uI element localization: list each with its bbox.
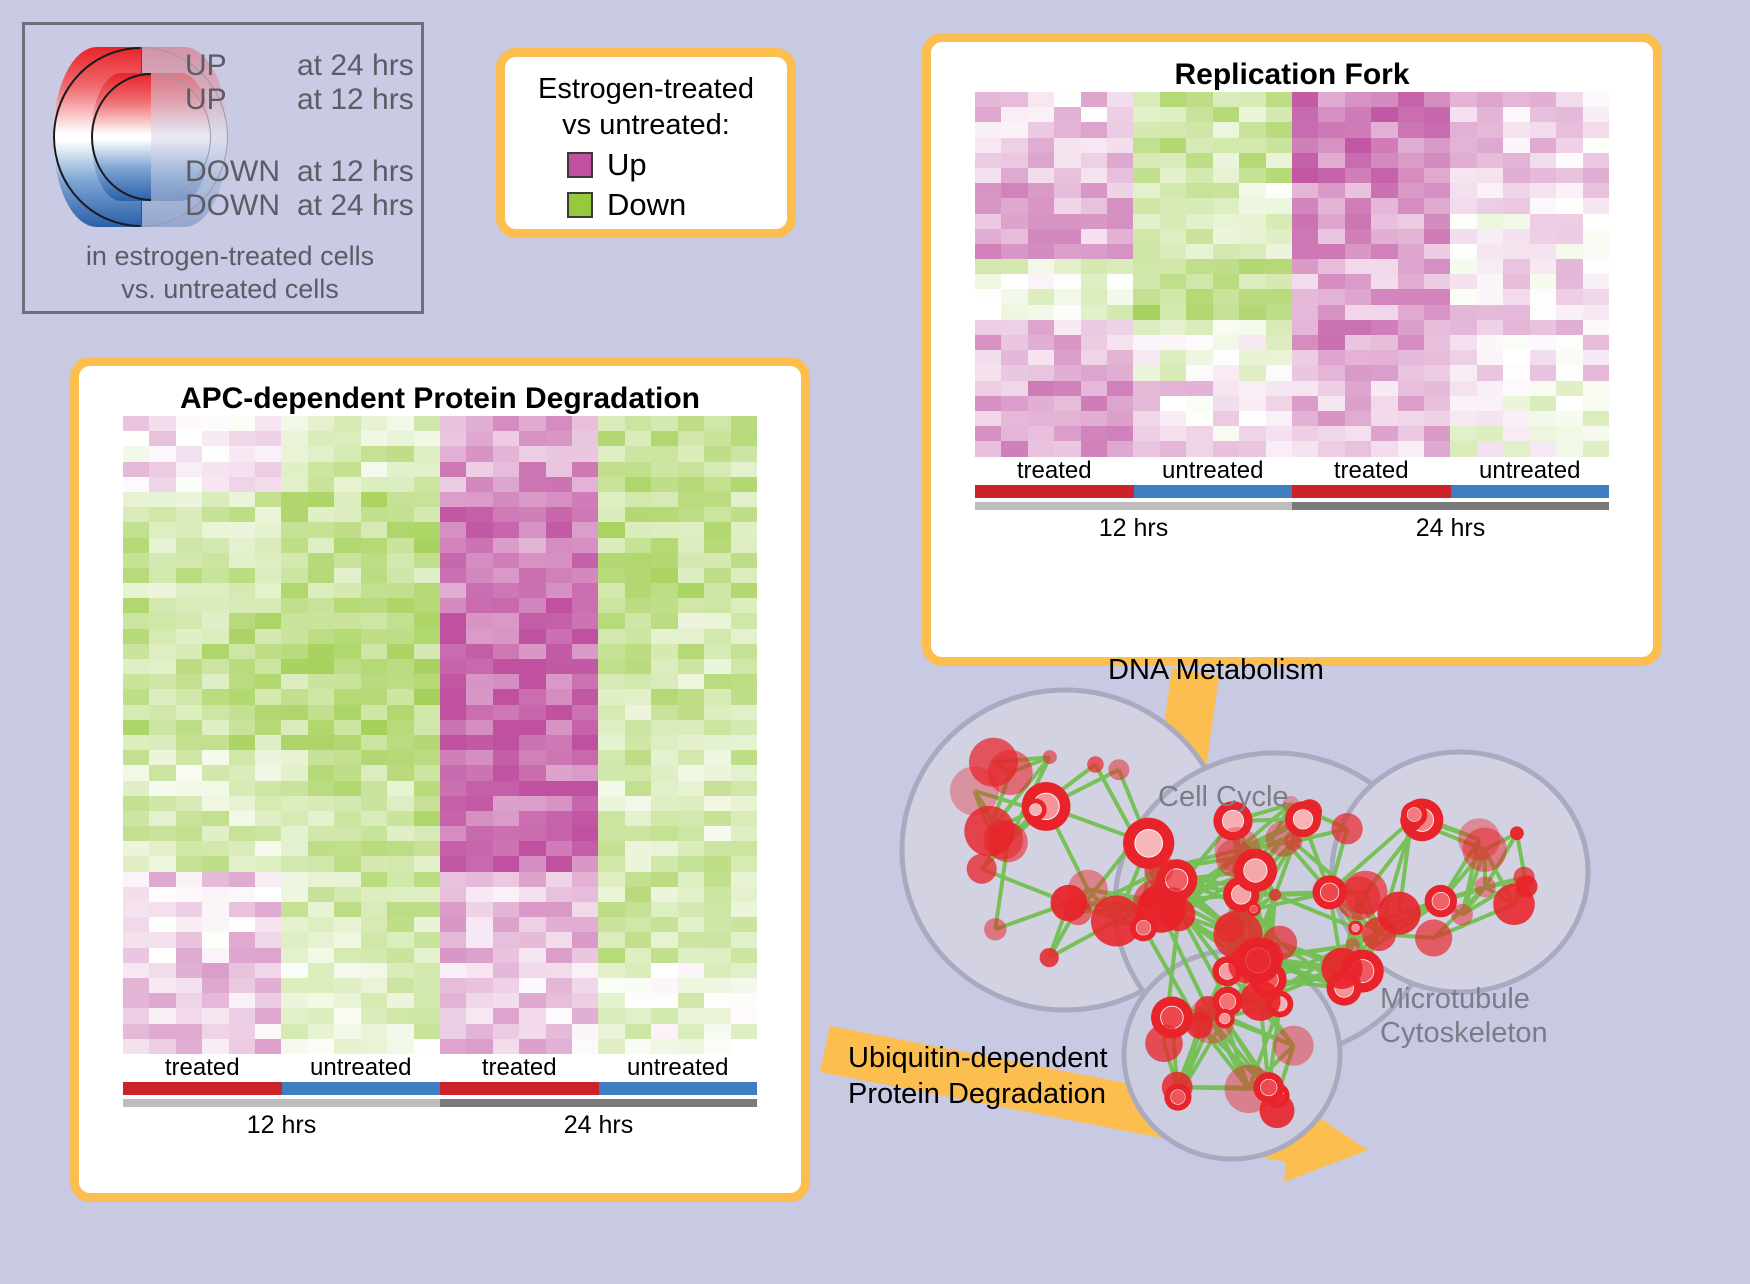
heatmap-cell	[493, 477, 519, 492]
heatmap-cell	[414, 507, 440, 522]
heatmap-cell	[975, 153, 1001, 168]
heatmap-cell	[149, 629, 175, 644]
heatmap-cell	[572, 902, 598, 917]
heatmap-cell	[255, 416, 281, 431]
heatmap-cell	[1028, 153, 1054, 168]
cluster-label-protein-degradation: Protein Degradation	[848, 1076, 1106, 1112]
heatmap-cell	[440, 674, 466, 689]
heatmap-cell	[387, 917, 413, 932]
heatmap-cell	[229, 507, 255, 522]
heatmap-cell	[202, 1039, 228, 1054]
heatmap-cell	[281, 705, 307, 720]
heatmap-cell	[1213, 153, 1239, 168]
heatmap-cell	[440, 765, 466, 780]
heatmap-cell	[1583, 153, 1609, 168]
heatmap-cell	[334, 856, 360, 871]
heatmap-cell	[308, 659, 334, 674]
heatmap-cell	[1239, 92, 1265, 107]
heatmap-cell	[255, 598, 281, 613]
heatmap-cell	[1345, 168, 1371, 183]
updown-legend-card: Estrogen-treated vs untreated: Up Down	[496, 48, 796, 238]
heatmap-cell	[1318, 305, 1344, 320]
heatmap-cell	[1345, 92, 1371, 107]
network-node[interactable]	[1475, 876, 1496, 897]
heatmap-cell	[598, 538, 624, 553]
heatmap-cell	[387, 629, 413, 644]
heatmap-cell	[572, 1039, 598, 1054]
heatmap-cell	[1001, 274, 1027, 289]
network-node[interactable]	[1451, 904, 1473, 926]
heatmap-cell	[1160, 122, 1186, 137]
heatmap-cell	[572, 796, 598, 811]
network-node[interactable]	[967, 854, 997, 884]
heatmap-cell	[1001, 350, 1027, 365]
heatmap-cell	[493, 431, 519, 446]
heatmap-cell	[572, 917, 598, 932]
heatmap-cell	[1556, 168, 1582, 183]
heatmap-cell	[1054, 122, 1080, 137]
heatmap-cell	[519, 902, 545, 917]
heatmap-cell	[466, 613, 492, 628]
network-node[interactable]	[1149, 857, 1174, 882]
heatmap-cell	[519, 659, 545, 674]
heatmap-cell	[281, 1008, 307, 1023]
time-label-24-hrs: 24 hrs	[440, 1107, 757, 1140]
apc-degradation-panel: APC-dependent Protein Degradation treate…	[70, 357, 810, 1202]
heatmap-cell	[519, 932, 545, 947]
heatmap-cell	[1530, 365, 1556, 380]
heatmap-cell	[1081, 335, 1107, 350]
heatmap-cell	[625, 416, 651, 431]
heatmap-cell	[281, 735, 307, 750]
heatmap-cell	[1001, 138, 1027, 153]
heatmap-cell	[1530, 107, 1556, 122]
group-label-untreated: untreated	[282, 1054, 441, 1082]
heatmap-cell	[1292, 320, 1318, 335]
heatmap-cell	[123, 917, 149, 932]
heatmap-cell	[519, 613, 545, 628]
heatmap-cell	[176, 538, 202, 553]
network-node[interactable]	[1087, 756, 1104, 773]
heatmap-cell	[466, 659, 492, 674]
heatmap-cell	[387, 583, 413, 598]
network-node-core[interactable]	[1220, 1013, 1230, 1023]
heatmap-cell	[1556, 289, 1582, 304]
heatmap-cell	[1450, 441, 1476, 456]
heatmap-cell	[281, 568, 307, 583]
heatmap-cell	[176, 416, 202, 431]
heatmap-cell	[572, 674, 598, 689]
heatmap-cell	[440, 1008, 466, 1023]
heatmap-cell	[975, 244, 1001, 259]
heatmap-cell	[1503, 214, 1529, 229]
heatmap-cell	[176, 522, 202, 537]
network-node[interactable]	[969, 738, 1018, 787]
heatmap-cell	[1081, 138, 1107, 153]
heatmap-cell	[414, 1008, 440, 1023]
heatmap-cell	[731, 750, 757, 765]
heatmap-cell	[1266, 198, 1292, 213]
heatmap-cell	[1292, 138, 1318, 153]
heatmap-cell	[731, 887, 757, 902]
heatmap-cell	[704, 826, 730, 841]
time-bar-12-hrs	[123, 1099, 440, 1107]
heatmap-cell	[651, 705, 677, 720]
network-node-core[interactable]	[1136, 921, 1150, 935]
heatmap-cell	[176, 841, 202, 856]
network-node[interactable]	[1285, 833, 1303, 851]
network-node-core[interactable]	[1321, 883, 1339, 901]
time-bar-24-hrs	[1292, 502, 1609, 510]
heatmap-cell	[1028, 320, 1054, 335]
heatmap-cell	[334, 689, 360, 704]
heatmap-cell	[651, 735, 677, 750]
heatmap-cell	[598, 993, 624, 1008]
heatmap-cell	[625, 1039, 651, 1054]
heatmap-cell	[651, 932, 677, 947]
heatmap-cell	[1477, 274, 1503, 289]
heatmap-cell	[651, 644, 677, 659]
heatmap-cell	[625, 948, 651, 963]
heatmap-cell	[1054, 381, 1080, 396]
heatmap-cell	[678, 917, 704, 932]
heatmap-cell	[1503, 244, 1529, 259]
heatmap-cell	[1081, 122, 1107, 137]
heatmap-cell	[1186, 259, 1212, 274]
network-node-core[interactable]	[1220, 994, 1236, 1010]
network-node-core[interactable]	[1244, 859, 1267, 882]
heatmap-cell	[149, 856, 175, 871]
heatmap-cell	[572, 841, 598, 856]
heatmap-cell	[625, 811, 651, 826]
heatmap-cell	[123, 446, 149, 461]
heatmap-cell	[493, 689, 519, 704]
heatmap-cell	[651, 689, 677, 704]
heatmap-cell	[229, 522, 255, 537]
heatmap-cell	[975, 426, 1001, 441]
heatmap-cell	[361, 1008, 387, 1023]
heatmap-cell	[1001, 320, 1027, 335]
heatmap-cell	[229, 492, 255, 507]
heatmap-cell	[1054, 138, 1080, 153]
heatmap-cell	[123, 553, 149, 568]
heatmap-cell	[651, 674, 677, 689]
heatmap-cell	[361, 659, 387, 674]
network-node[interactable]	[1269, 889, 1281, 901]
network-node[interactable]	[988, 823, 1028, 863]
group-label-untreated: untreated	[1134, 457, 1293, 485]
heatmap-cell	[493, 932, 519, 947]
network-node[interactable]	[1415, 919, 1452, 956]
heatmap-cell	[1081, 183, 1107, 198]
network-node[interactable]	[1145, 1025, 1183, 1063]
heatmap-cell	[308, 765, 334, 780]
heatmap-cell	[387, 841, 413, 856]
heatmap-cell	[1266, 229, 1292, 244]
heatmap-cell	[572, 462, 598, 477]
heatmap-cell	[387, 568, 413, 583]
heatmap-cell	[149, 796, 175, 811]
heatmap-cell	[1477, 259, 1503, 274]
heatmap-cell	[1160, 396, 1186, 411]
network-node[interactable]	[1378, 892, 1421, 935]
heatmap-cell	[1424, 289, 1450, 304]
heatmap-cell	[202, 887, 228, 902]
heatmap-cell	[414, 811, 440, 826]
heatmap-cell	[176, 978, 202, 993]
heatmap-cell	[493, 978, 519, 993]
heatmap-cell	[361, 674, 387, 689]
heatmap-cell	[1213, 122, 1239, 137]
heatmap-cell	[334, 1024, 360, 1039]
heatmap-cell	[731, 826, 757, 841]
heatmap-cell	[440, 887, 466, 902]
heatmap-cell	[229, 735, 255, 750]
heatmap-cell	[361, 856, 387, 871]
heatmap-cell	[149, 887, 175, 902]
heatmap-cell	[1345, 259, 1371, 274]
heatmap-cell	[546, 583, 572, 598]
heatmap-cell	[123, 644, 149, 659]
heatmap-cell	[975, 138, 1001, 153]
heatmap-cell	[334, 750, 360, 765]
heatmap-cell	[1028, 381, 1054, 396]
heatmap-cell	[493, 674, 519, 689]
heatmap-cell	[1318, 153, 1344, 168]
heatmap-cell	[229, 477, 255, 492]
heatmap-cell	[598, 705, 624, 720]
heatmap-cell	[361, 522, 387, 537]
heatmap-cell	[546, 948, 572, 963]
heatmap-cell	[440, 492, 466, 507]
heatmap-cell	[308, 492, 334, 507]
network-node-core[interactable]	[1171, 1090, 1185, 1104]
heatmap-cell	[572, 644, 598, 659]
network-node[interactable]	[1240, 980, 1281, 1021]
heatmap-cell	[572, 993, 598, 1008]
heatmap-cell	[387, 978, 413, 993]
heatmap-cell	[598, 887, 624, 902]
heatmap-cell	[625, 872, 651, 887]
heatmap-cell	[281, 674, 307, 689]
heatmap-cell	[678, 1008, 704, 1023]
heatmap-cell	[308, 598, 334, 613]
heatmap-cell	[1503, 426, 1529, 441]
heatmap-cell	[598, 948, 624, 963]
heatmap-cell	[1345, 305, 1371, 320]
network-node[interactable]	[1215, 913, 1244, 942]
heatmap-cell	[975, 122, 1001, 137]
heatmap-cell	[414, 583, 440, 598]
heatmap-cell	[414, 750, 440, 765]
heatmap-cell	[546, 431, 572, 446]
network-node[interactable]	[1043, 750, 1057, 764]
heatmap-cell	[1107, 259, 1133, 274]
network-node[interactable]	[1510, 826, 1524, 840]
heatmap-cell	[1186, 396, 1212, 411]
heatmap-cell	[1107, 411, 1133, 426]
network-node[interactable]	[1331, 813, 1362, 844]
heatmap-cell	[598, 416, 624, 431]
heatmap-cell	[1345, 153, 1371, 168]
network-node[interactable]	[1108, 759, 1129, 780]
heatmap-cell	[1001, 92, 1027, 107]
network-node[interactable]	[1458, 818, 1500, 860]
heatmap-cell	[229, 553, 255, 568]
heatmap-cell	[361, 629, 387, 644]
heatmap-cell	[1160, 320, 1186, 335]
heatmap-cell	[1398, 274, 1424, 289]
heatmap-cell	[1503, 122, 1529, 137]
heatmap-cell	[1530, 183, 1556, 198]
heatmap-cell	[176, 826, 202, 841]
legend-key-up12: UP	[185, 83, 297, 117]
heatmap-cell	[308, 1039, 334, 1054]
heatmap-cell	[149, 902, 175, 917]
network-node-core[interactable]	[1030, 804, 1042, 816]
heatmap-cell	[308, 674, 334, 689]
heatmap-cell	[255, 765, 281, 780]
heatmap-cell	[387, 477, 413, 492]
heatmap-cell	[1266, 411, 1292, 426]
network-node[interactable]	[1160, 887, 1187, 914]
replication-fork-panel: Replication Fork treateduntreatedtreated…	[922, 33, 1662, 666]
heatmap-cell	[1001, 411, 1027, 426]
heatmap-cell	[1081, 365, 1107, 380]
network-node-core[interactable]	[1294, 810, 1313, 829]
heatmap-cell	[334, 598, 360, 613]
legend-value-down24: at 24 hrs	[297, 189, 414, 223]
heatmap-cell	[281, 796, 307, 811]
heatmap-cell	[1001, 153, 1027, 168]
heatmap-cell	[625, 781, 651, 796]
heatmap-cell	[229, 841, 255, 856]
network-node-core[interactable]	[1407, 808, 1421, 822]
heatmap-cell	[255, 887, 281, 902]
network-node[interactable]	[1321, 948, 1362, 989]
heatmap-cell	[1133, 214, 1159, 229]
heatmap-cell	[1530, 244, 1556, 259]
heatmap-cell	[572, 507, 598, 522]
heatmap-cell	[387, 705, 413, 720]
heatmap-cell	[334, 765, 360, 780]
heatmap-cell	[493, 568, 519, 583]
heatmap-cell	[625, 507, 651, 522]
heatmap-cell	[1239, 107, 1265, 122]
heatmap-cell	[546, 917, 572, 932]
heatmap-cell	[466, 462, 492, 477]
heatmap-cell	[466, 507, 492, 522]
heatmap-cell	[678, 462, 704, 477]
heatmap-cell	[1028, 244, 1054, 259]
heatmap-cell	[334, 659, 360, 674]
heatmap-cell	[281, 446, 307, 461]
network-node-core[interactable]	[1432, 893, 1449, 910]
heatmap-cell	[546, 872, 572, 887]
network-node-core[interactable]	[1135, 830, 1162, 857]
heatmap-cell	[1266, 305, 1292, 320]
heatmap-cell	[414, 993, 440, 1008]
heatmap-cell	[281, 659, 307, 674]
heatmap-cell	[625, 765, 651, 780]
heatmap-cell	[202, 538, 228, 553]
heatmap-cell	[598, 1008, 624, 1023]
network-node[interactable]	[1274, 1026, 1314, 1066]
heatmap-cell	[1081, 426, 1107, 441]
heatmap-cell	[414, 872, 440, 887]
heatmap-cell	[1186, 305, 1212, 320]
heatmap-cell	[308, 522, 334, 537]
heatmap-cell	[1107, 350, 1133, 365]
heatmap-cell	[1503, 396, 1529, 411]
heatmap-cell	[1450, 274, 1476, 289]
heatmap-cell	[440, 431, 466, 446]
network-node-core[interactable]	[1352, 924, 1360, 932]
network-node-core[interactable]	[1250, 906, 1257, 913]
heatmap-cell	[176, 1008, 202, 1023]
heatmap-cell	[1292, 259, 1318, 274]
network-node-core[interactable]	[1261, 1080, 1277, 1096]
heatmap-cell	[123, 477, 149, 492]
heatmap-cell	[414, 856, 440, 871]
heatmap-cell	[1239, 259, 1265, 274]
heatmap-cell	[1398, 153, 1424, 168]
heatmap-cell	[229, 781, 255, 796]
heatmap-cell	[334, 1008, 360, 1023]
heatmap-cell	[466, 629, 492, 644]
heatmap-cell	[229, 750, 255, 765]
network-node[interactable]	[1051, 885, 1088, 922]
heatmap-cell	[414, 674, 440, 689]
heatmap-cell	[308, 993, 334, 1008]
group-label-treated: treated	[440, 1054, 599, 1082]
heatmap-cell	[229, 902, 255, 917]
heatmap-cell	[1371, 244, 1397, 259]
heatmap-cell	[229, 872, 255, 887]
treatment-bar-treated	[440, 1082, 599, 1095]
heatmap-cell	[1424, 426, 1450, 441]
heatmap-cell	[229, 978, 255, 993]
heatmap-cell	[1266, 122, 1292, 137]
heatmap-cell	[546, 522, 572, 537]
network-node[interactable]	[1244, 938, 1283, 977]
heatmap-cell	[1054, 92, 1080, 107]
heatmap-cell	[1266, 350, 1292, 365]
heatmap-cell	[1477, 214, 1503, 229]
treatment-bar-treated	[1292, 485, 1451, 498]
heatmap-cell	[678, 841, 704, 856]
heatmap-cell	[519, 568, 545, 583]
heatmap-cell	[519, 993, 545, 1008]
heatmap-cell	[1371, 305, 1397, 320]
network-node[interactable]	[1493, 884, 1535, 926]
heatmap-cell	[598, 598, 624, 613]
network-node[interactable]	[984, 918, 1006, 940]
heatmap-cell	[1503, 183, 1529, 198]
heatmap-cell	[493, 826, 519, 841]
heatmap-cell	[1371, 320, 1397, 335]
heatmap-cell	[1318, 229, 1344, 244]
network-node[interactable]	[1040, 948, 1059, 967]
heatmap-cell	[598, 613, 624, 628]
heatmap-cell	[1345, 441, 1371, 456]
heatmap-cell	[1450, 214, 1476, 229]
heatmap-cell	[651, 963, 677, 978]
heatmap-cell	[651, 993, 677, 1008]
heatmap-cell	[625, 932, 651, 947]
heatmap-cell	[493, 720, 519, 735]
heatmap-cell	[149, 431, 175, 446]
